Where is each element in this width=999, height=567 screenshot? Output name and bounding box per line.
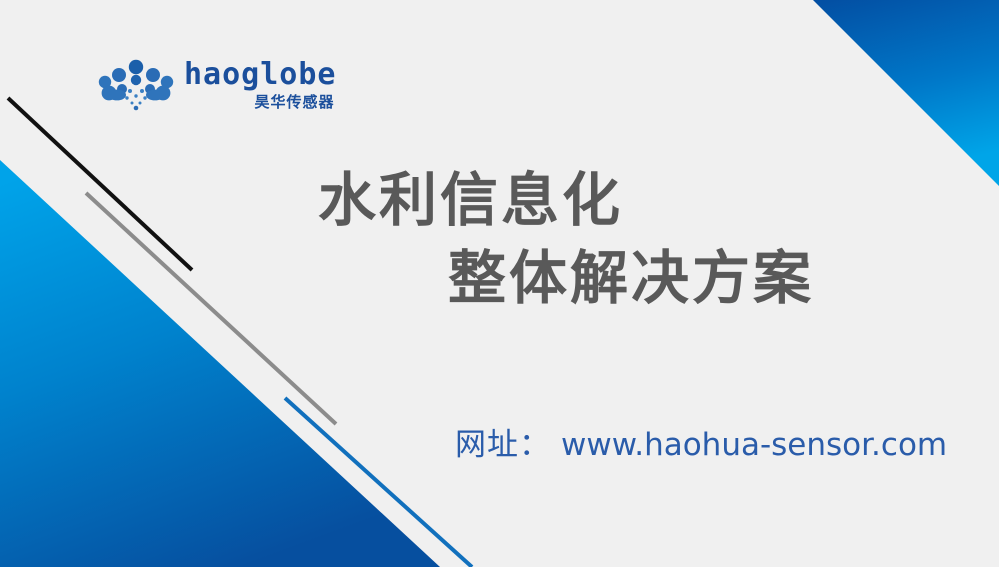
company-logo: haoglobe 昊华传感器 [96,58,337,112]
logo-wordmark: haoglobe [184,60,337,90]
page-title: 水利信息化 整体解决方案 [0,162,999,317]
logo-subtitle: 昊华传感器 [254,95,334,110]
network-dots-logo-icon [96,58,176,112]
diagonal-line-blue [285,398,472,567]
top-right-triangle [813,0,999,186]
page-title-line-2: 整体解决方案 [0,240,999,318]
website-label: 网址： [455,419,551,464]
page-title-line-1: 水利信息化 [0,162,999,240]
website-row: 网址： www.haohua-sensor.com [455,419,947,464]
presentation-title-slide: haoglobe 昊华传感器 水利信息化 整体解决方案 网址： www.haoh… [0,0,999,567]
logo-text-group: haoglobe 昊华传感器 [184,58,337,110]
website-url[interactable]: www.haohua-sensor.com [561,427,947,463]
